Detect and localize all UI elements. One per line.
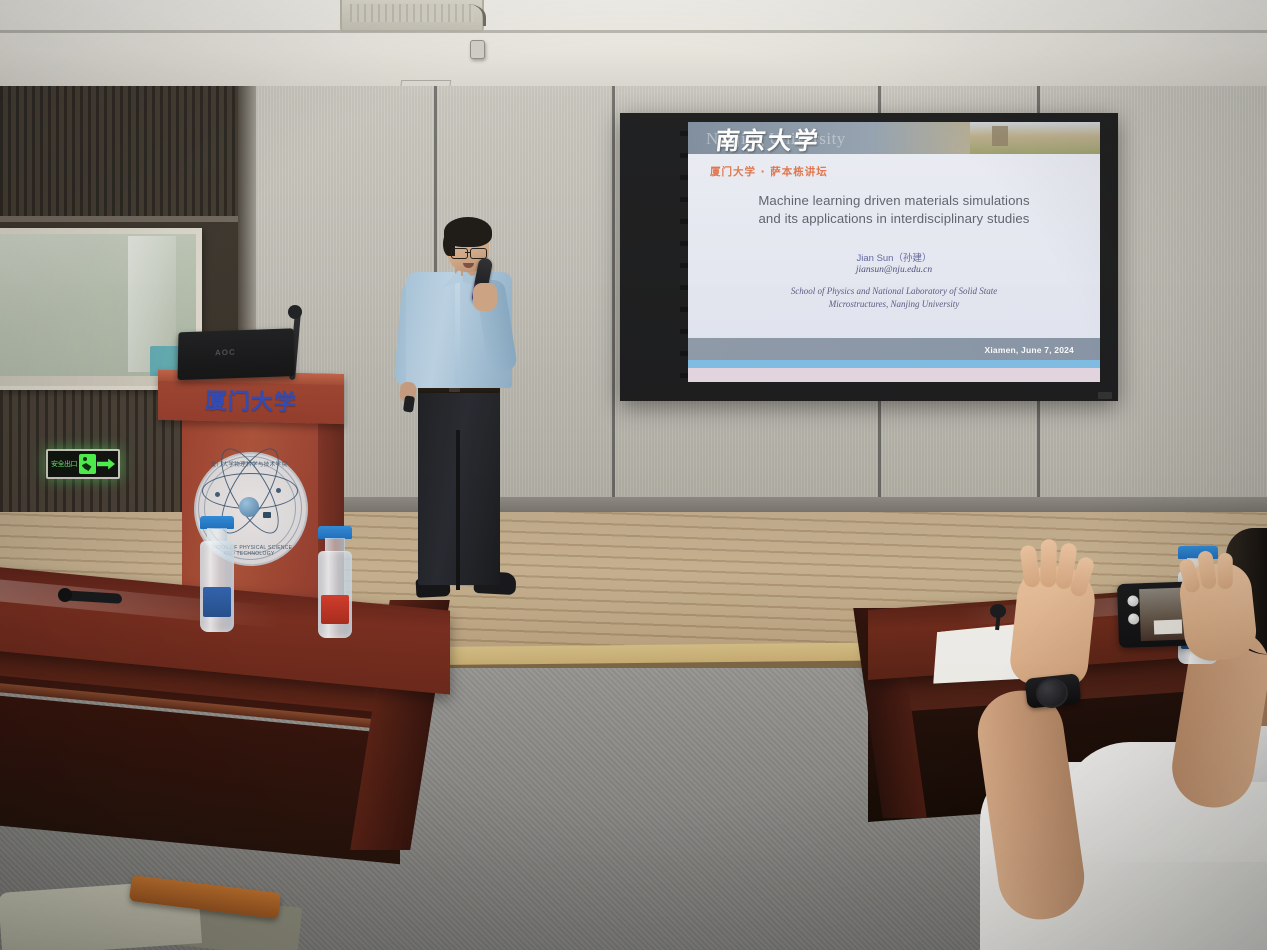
banner-campus-photo: [970, 122, 1100, 154]
water-bottle: [200, 516, 234, 632]
slide-title: Machine learning driven materials simula…: [688, 192, 1100, 228]
speaker-hand-right: [473, 283, 497, 311]
left-wall-trim: [0, 216, 256, 222]
wall-panel-seam: [612, 86, 615, 516]
speaker-trouser-seam: [456, 430, 460, 590]
projection-screen-surface: Nanjing University 南京大学 厦门大学 · 萨本栋讲坛 Mac…: [688, 122, 1100, 382]
slide-accent-bar-blue: [688, 360, 1100, 368]
bottle-body: [318, 551, 352, 638]
glasses-icon: [451, 248, 468, 259]
water-bottle: [318, 526, 352, 638]
ceiling-seam: [0, 30, 1267, 33]
emergency-exit-sign: 安全出口: [46, 449, 120, 479]
audience-hand-left: [1008, 562, 1098, 689]
glasses-bridge: [465, 252, 471, 253]
audience-hand-right: [1177, 560, 1259, 663]
slide-affiliation-line1: School of Physics and National Laborator…: [688, 285, 1100, 298]
bottle-neck: [207, 528, 226, 542]
bottle-neck: [325, 538, 344, 552]
seal-electron-icon: [215, 492, 220, 497]
finger: [1040, 539, 1057, 587]
ceiling-sensor-icon: [470, 40, 485, 59]
seal-electron-icon: [276, 488, 281, 493]
podium-monitor: [178, 328, 295, 380]
finger: [1218, 553, 1233, 589]
camera-lens-icon: [1128, 613, 1139, 624]
screen-brand-logo: [1098, 392, 1112, 399]
viewfinder-paper-reflection: [1154, 620, 1182, 635]
bottle-label: [203, 587, 232, 618]
speaker-shirt-placket: [455, 276, 460, 384]
slide-email: jiansun@nju.edu.cn: [688, 265, 1100, 275]
running-person-icon: [79, 454, 96, 474]
arrow-right-icon: [97, 459, 115, 470]
bottle-body: [200, 541, 234, 632]
monitor-brand-label: AOC: [215, 348, 236, 358]
seal-electron-icon: [263, 512, 271, 518]
seal-nucleus-icon: [239, 497, 259, 517]
podium-university-name: 厦门大学: [176, 382, 326, 417]
desk-microphone-head: [58, 588, 72, 602]
monitor-arm-joint: [288, 305, 302, 319]
slide-place-date: Xiamen, June 7, 2024: [984, 345, 1074, 355]
slide-author: Jian Sun（孙建）: [688, 250, 1100, 264]
banner-chinese-name: 南京大学: [714, 122, 822, 154]
slide-affiliation-line2: Microstructures, Nanjing University: [688, 298, 1100, 311]
bottle-label: [321, 595, 350, 625]
slide-accent-bar-pink: [688, 368, 1100, 382]
ceiling: [0, 0, 1267, 92]
lecture-hall-photo: 安全出口 Nanjing University 南京大学 厦门大学 · 萨本栋讲: [0, 0, 1267, 950]
slide-banner: Nanjing University 南京大学: [688, 122, 1100, 154]
right-desk-microphone-icon: [990, 604, 1006, 618]
presentation-slide: Nanjing University 南京大学 厦门大学 · 萨本栋讲坛 Mac…: [688, 122, 1100, 382]
left-wall-ribbed-panel: [0, 86, 256, 216]
slide-affiliation: School of Physics and National Laborator…: [688, 285, 1100, 311]
camera-lens-icon: [1127, 595, 1138, 606]
exit-sign-label: 安全出口: [51, 461, 77, 468]
seal-top-text: 厦门大学物理科学与技术学院: [200, 460, 298, 468]
slide-title-line1: Machine learning driven materials simula…: [688, 192, 1100, 210]
slide-forum-line: 厦门大学 · 萨本栋讲坛: [710, 164, 828, 179]
slide-title-line2: and its applications in interdisciplinar…: [688, 210, 1100, 228]
